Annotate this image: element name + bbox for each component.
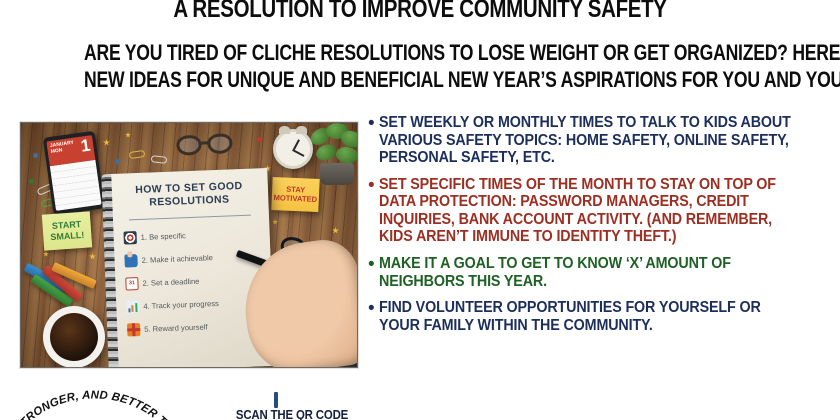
notebook-item-label: 1. Be specific	[141, 231, 186, 242]
subtitle-line-2: NEW IDEAS FOR UNIQUE AND BENEFICIAL NEW …	[84, 67, 756, 94]
thumbs-up-icon	[124, 254, 137, 267]
subtitle-line-1: ARE YOU TIRED OF CLICHE RESOLUTIONS TO L…	[84, 40, 756, 67]
notebook-title: HOW TO SET GOOD RESOLUTIONS	[120, 179, 259, 210]
notebook-item-label: 5. Reward yourself	[144, 322, 208, 333]
bullet-marker: •	[368, 299, 375, 319]
plant-leaf	[315, 143, 337, 161]
bullet-marker: •	[368, 255, 375, 275]
bar-chart-icon	[126, 300, 139, 313]
confetti-dot	[257, 137, 262, 142]
list-item: • MAKE IT A GOAL TO GET TO KNOW ‘X’ AMOU…	[368, 255, 834, 290]
sticky-note-start-small: START SMALL!	[42, 211, 92, 250]
list-item-text: FIND VOLUNTEER OPPORTUNITIES FOR YOURSEL…	[379, 299, 802, 334]
page-subtitle: ARE YOU TIRED OF CLICHE RESOLUTIONS TO L…	[84, 40, 756, 94]
list-item-text: SET SPECIFIC TIMES OF THE MONTH TO STAY …	[379, 176, 802, 246]
list-item-text: SET WEEKLY OR MONTHLY TIMES TO TALK TO K…	[379, 114, 802, 167]
alarm-clock-icon	[273, 129, 313, 169]
calendar-day-number: 1	[80, 137, 92, 155]
clock-bell-left	[279, 126, 290, 134]
notebook-item-label: 2. Set a deadline	[142, 277, 199, 288]
sticky-orange-line-2: MOTIVATED	[273, 194, 317, 205]
list-item-text: MAKE IT A GOAL TO GET TO KNOW ‘X’ AMOUNT…	[379, 255, 802, 290]
bullet-marker: •	[368, 114, 375, 134]
svg-text:ER, STRONGER, AND BETTER TOGET: ER, STRONGER, AND BETTER TOGET	[14, 383, 174, 420]
logo-arc-text: ER, STRONGER, AND BETTER TOGET	[14, 383, 174, 420]
list-item: • SET SPECIFIC TIMES OF THE MONTH TO STA…	[368, 176, 834, 246]
plant-pot	[320, 163, 354, 185]
gift-icon	[127, 323, 140, 336]
page-title: A RESOLUTION TO IMPROVE COMMUNITY SAFETY	[76, 0, 765, 23]
potted-plant	[308, 123, 358, 185]
notebook-item-label: 2. Make it achievable	[141, 253, 213, 265]
confetti-dot	[115, 159, 120, 164]
sticky-green-line-2: SMALL!	[50, 230, 85, 243]
phone-calendar: JANUARY MON 1	[43, 131, 105, 215]
notebook-item-label: 4. Track your progress	[143, 299, 219, 311]
resolution-ideas-list: • SET WEEKLY OR MONTHLY TIMES TO TALK TO…	[368, 114, 834, 343]
qr-code-callout[interactable]: SCAN THE QR CODE	[222, 392, 362, 420]
calendar-grid	[50, 160, 102, 211]
coffee-cup	[43, 306, 105, 368]
qr-code-label: SCAN THE QR CODE	[230, 407, 353, 420]
bullet-marker: •	[368, 176, 375, 196]
confetti-dot	[33, 153, 38, 158]
list-item: • FIND VOLUNTEER OPPORTUNITIES FOR YOURS…	[368, 299, 834, 334]
list-item: • SET WEEKLY OR MONTHLY TIMES TO TALK TO…	[368, 114, 834, 167]
calendar-icon	[125, 277, 138, 290]
target-icon	[123, 231, 136, 244]
confetti-dot	[29, 179, 34, 184]
sticky-note-stay-motivated: STAY MOTIVATED	[271, 177, 319, 212]
arrow-pointer-icon	[274, 392, 278, 408]
notebook-divider	[129, 215, 251, 221]
organization-logo-arc: ER, STRONGER, AND BETTER TOGET	[14, 383, 174, 420]
clock-bell-right	[296, 126, 307, 134]
resolution-photo: JANUARY MON 1 START SM	[20, 122, 358, 368]
